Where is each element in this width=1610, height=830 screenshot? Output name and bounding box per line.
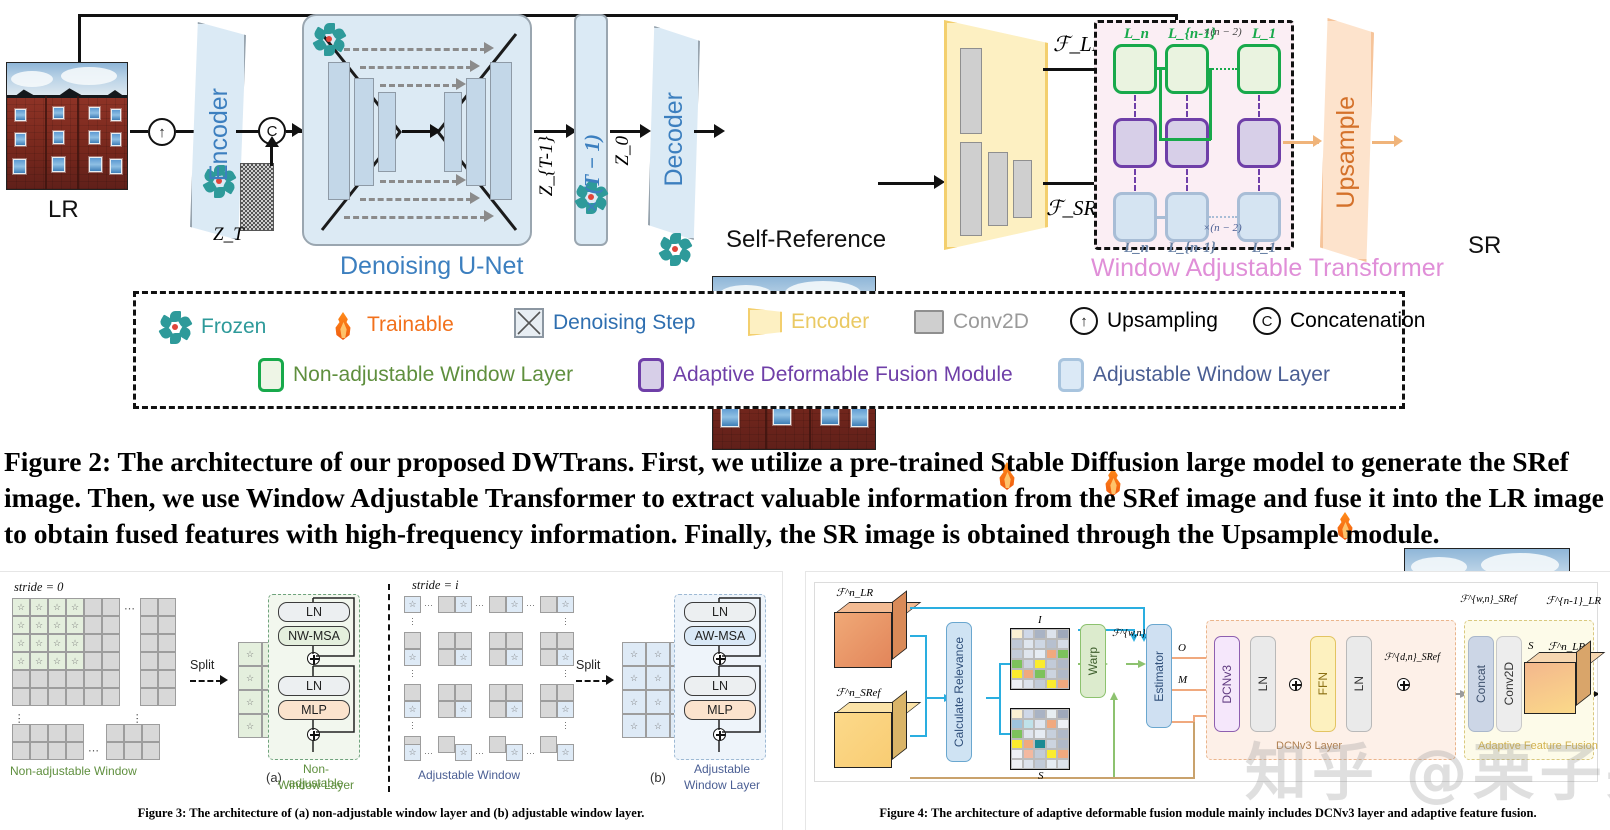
conv2d-label: Conv2D bbox=[1502, 662, 1516, 705]
conv-bar bbox=[1013, 160, 1032, 218]
up-arrow-glyph: ↑ bbox=[1080, 313, 1088, 330]
legend-item-concatenation: C Concatenation bbox=[1253, 307, 1425, 335]
encoder-out-line bbox=[236, 130, 260, 133]
panel-divider bbox=[388, 584, 390, 792]
green-repeat-label: ×(n − 2) bbox=[1203, 26, 1242, 38]
split-label-a: Split bbox=[190, 658, 214, 672]
latent-tm1-label: Z_{T-1} bbox=[536, 136, 558, 196]
flame-icon bbox=[328, 308, 358, 342]
estimator-label: Estimator bbox=[1152, 651, 1166, 702]
legend-item-adaptive-deformable-fusion-module: Adaptive Deformable Fusion Module bbox=[638, 358, 1013, 392]
conv-bar bbox=[960, 48, 982, 134]
residual-add-icon bbox=[1289, 678, 1302, 691]
legend-item-conv2d: Conv2D bbox=[914, 310, 1029, 334]
lr-label: LR bbox=[48, 196, 79, 224]
ln-label: LN bbox=[1352, 676, 1366, 691]
ffn-label: FFN bbox=[1316, 672, 1330, 695]
concat-block: Concat bbox=[1468, 636, 1494, 732]
noise-latent-image bbox=[240, 163, 274, 231]
calculate-relevance-block: Calculate Relevance bbox=[946, 622, 972, 762]
legend-label: Adaptive Deformable Fusion Module bbox=[673, 363, 1013, 387]
concat-glyph: C bbox=[1262, 313, 1273, 330]
legend-item-adjustable-window-layer: Adjustable Window Layer bbox=[1058, 358, 1330, 392]
panel-b-sublabel: (b) bbox=[650, 770, 666, 785]
decoder-in-arrowhead bbox=[640, 124, 651, 138]
warp-label: Warp bbox=[1086, 647, 1100, 675]
offset-o-label: O bbox=[1178, 642, 1186, 654]
up-arrow-circle-icon: ↑ bbox=[1070, 307, 1098, 335]
repeat-out-line bbox=[610, 130, 644, 133]
legend-label: Encoder bbox=[791, 310, 869, 334]
dcnv3-block: DCNv3 bbox=[1214, 636, 1240, 732]
trapezoid-icon bbox=[748, 308, 782, 336]
estimator-block: Estimator bbox=[1146, 624, 1172, 728]
blue-repeat-label: ×(n − 2) bbox=[1203, 222, 1242, 234]
upsampling-glyph: ↑ bbox=[158, 124, 166, 141]
fusion-input-label: ℱ^{w,n}_SRef bbox=[1460, 594, 1517, 605]
relevance-map-s bbox=[1010, 708, 1070, 770]
deform-sref-label: ℱ^{d,n}_SRef bbox=[1384, 652, 1440, 663]
green-layer-label: L_n bbox=[1124, 26, 1149, 43]
ln-block: LN bbox=[1346, 636, 1372, 732]
adaptive-deformable-fusion-box bbox=[1237, 118, 1281, 168]
legend-label: Frozen bbox=[201, 315, 266, 339]
non-adjustable-window-label: Non-adjustable Window bbox=[10, 764, 137, 778]
legend-label: Adjustable Window Layer bbox=[1093, 363, 1330, 387]
decoder-label: Decoder bbox=[660, 92, 689, 187]
blue-box-icon bbox=[1058, 358, 1084, 392]
sr-label: SR bbox=[1468, 232, 1501, 260]
denoising-unet-block bbox=[302, 14, 532, 246]
ln-block: LN bbox=[1250, 636, 1276, 732]
warp-block: Warp bbox=[1080, 624, 1106, 698]
ln-label: LN bbox=[1256, 676, 1270, 691]
latent-z0-label: Z_0 bbox=[612, 136, 634, 166]
self-reference-label: Self-Reference bbox=[726, 226, 886, 254]
conv2d-block: Conv2D bbox=[1496, 636, 1522, 732]
relevance-map-i bbox=[1010, 628, 1070, 690]
green-box-icon bbox=[258, 358, 284, 392]
residual-add-icon bbox=[1397, 678, 1410, 691]
hourglass-icon bbox=[514, 308, 544, 338]
concat-circle-icon: C bbox=[1253, 307, 1281, 335]
legend-label: Denoising Step bbox=[553, 311, 695, 335]
noise-arrowhead bbox=[265, 136, 279, 147]
unet-label: Denoising U-Net bbox=[340, 252, 523, 281]
skip-connection-horizontal bbox=[78, 14, 1178, 17]
adjustable-window-layer-box bbox=[1237, 192, 1281, 242]
map-s-label: S bbox=[1038, 770, 1044, 782]
layer-title-b-line1: Adjustable bbox=[682, 762, 762, 776]
wat-title: Window Adjustable Transformer bbox=[1091, 254, 1444, 283]
legend-label: Trainable bbox=[367, 313, 454, 337]
split-label-b: Split bbox=[576, 658, 600, 672]
figure3-caption: Figure 3: The architecture of (a) non-ad… bbox=[0, 806, 782, 821]
figure3-panel: stride = 0 ☆☆☆☆ ☆☆☆☆ ☆☆☆☆ ☆☆☆☆ ⋯ ⋯ ⋯ ⋯ N… bbox=[0, 572, 782, 830]
stride-label-b: stride = i bbox=[412, 578, 459, 593]
legend-item-denoising-step: Denoising Step bbox=[514, 308, 695, 338]
scale-s-label: S bbox=[1528, 640, 1534, 652]
selfref-in-arrowhead bbox=[714, 124, 725, 138]
purple-box-icon bbox=[638, 358, 664, 392]
legend-item-encoder: Encoder bbox=[748, 308, 869, 336]
non-adjustable-window-grid-green: ☆☆☆☆ ☆☆☆☆ ☆☆☆☆ ☆☆☆☆ bbox=[12, 598, 84, 670]
snowflake-icon bbox=[658, 232, 692, 266]
window-grid-gray bbox=[12, 724, 84, 760]
adjustable-window-grid: ☆ ⋯ ☆ ⋯ ☆ ⋯ ☆ ⋯ ⋯ ☆ ☆ ☆ ☆ ⋯ ⋯ ☆ ☆ bbox=[404, 596, 584, 766]
window-grid-gray bbox=[84, 598, 120, 670]
legend-item-trainable: Trainable bbox=[328, 308, 454, 342]
stride-label-a: stride = 0 bbox=[14, 580, 63, 595]
upsample-label: Upsample bbox=[1332, 96, 1361, 209]
green-layer-label: L_1 bbox=[1252, 26, 1276, 43]
window-grid-gray bbox=[84, 670, 120, 706]
square-icon bbox=[914, 310, 944, 334]
non-adjustable-window-layer-box bbox=[1113, 44, 1157, 94]
snowflake-icon bbox=[312, 22, 346, 56]
window-grid-gray bbox=[106, 724, 160, 760]
zt-label: Z_T bbox=[213, 224, 244, 246]
concat-label: Concat bbox=[1474, 665, 1488, 703]
legend-item-non-adjustable-window-layer: Non-adjustable Window Layer bbox=[258, 358, 573, 392]
legend-item-frozen: Frozen bbox=[158, 310, 266, 344]
upsampling-icon: ↑ bbox=[148, 118, 176, 146]
adaptive-deformable-fusion-box bbox=[1165, 118, 1209, 168]
adjustable-window-layer-box bbox=[1165, 192, 1209, 242]
legend-label: Non-adjustable Window Layer bbox=[293, 363, 573, 387]
layer-title-b-line2: Window Layer bbox=[682, 778, 762, 792]
legend-label: Concatenation bbox=[1290, 309, 1425, 333]
non-adjustable-window-layer-box bbox=[1165, 44, 1209, 94]
repeat-label: ×(T − 1) bbox=[580, 134, 605, 219]
window-grid-gray bbox=[12, 670, 84, 706]
unet-out-line bbox=[534, 130, 570, 133]
ffn-block: FFN bbox=[1310, 636, 1336, 732]
window-grid-gray bbox=[140, 670, 176, 706]
map-i-label: I bbox=[1038, 614, 1042, 626]
encoder2-in-arrowhead bbox=[934, 175, 945, 189]
selfref-out-line bbox=[878, 182, 938, 185]
adjustable-window-layer-box bbox=[1113, 192, 1157, 242]
legend-box: Frozen Trainable Denoising Step Encoder … bbox=[133, 291, 1405, 409]
adaptive-deformable-fusion-box bbox=[1113, 118, 1157, 168]
output-label: ℱ^{n-1}_LR bbox=[1546, 594, 1601, 607]
figure2-caption: Figure 2: The architecture of our propos… bbox=[4, 444, 1606, 551]
conv-bar bbox=[960, 142, 982, 236]
upsample-to-encoder-line bbox=[176, 130, 196, 133]
dcnv3-label: DCNv3 bbox=[1220, 665, 1234, 704]
encoder-label: Encoder bbox=[205, 88, 234, 181]
conv-bar bbox=[988, 152, 1008, 226]
lr-to-upsample-line bbox=[130, 130, 148, 133]
legend-label: Conv2D bbox=[953, 310, 1029, 334]
lr-image bbox=[6, 62, 128, 190]
adjustable-window-label: Adjustable Window bbox=[418, 768, 520, 782]
legend-label: Upsampling bbox=[1107, 309, 1218, 333]
mask-m-label: M bbox=[1178, 674, 1187, 686]
legend-item-upsampling: ↑ Upsampling bbox=[1070, 307, 1218, 335]
noise-to-concat-line bbox=[270, 146, 273, 166]
calculate-relevance-label: Calculate Relevance bbox=[952, 637, 966, 747]
snowflake-icon bbox=[158, 310, 192, 344]
zhihu-watermark: 知乎 @栗子哭 bbox=[1245, 722, 1610, 812]
window-grid-gray bbox=[140, 598, 176, 670]
non-adjustable-window-layer-box bbox=[1237, 44, 1281, 94]
output-cube bbox=[1524, 652, 1590, 714]
layer-title-a-line2: Window Layer bbox=[276, 778, 356, 792]
